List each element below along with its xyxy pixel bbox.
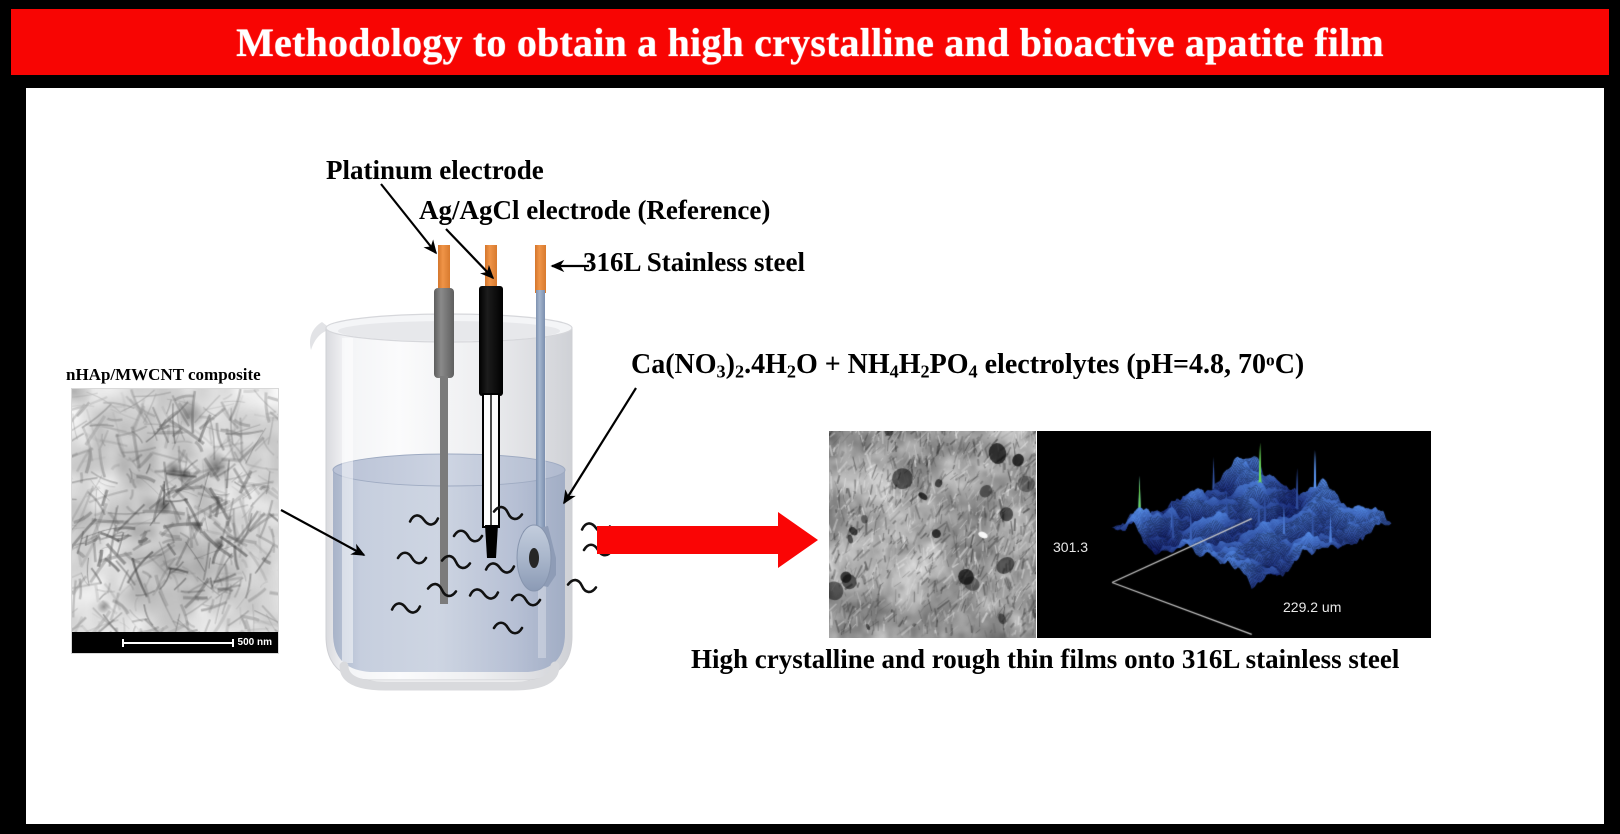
diagram-canvas: Platinum electrode Ag/AgCl electrode (Re… xyxy=(26,88,1604,824)
red-arrow-icon xyxy=(597,512,818,568)
arrow-to-electrolyte xyxy=(564,388,636,503)
platinum-tip-icon xyxy=(438,245,450,291)
glass-highlight-left xyxy=(342,338,353,663)
apparatus-illustration xyxy=(26,88,1604,824)
platinum-wire xyxy=(440,376,448,604)
steel-sample-disc xyxy=(517,525,556,591)
working-electrode-rod xyxy=(536,290,545,535)
working-tip-icon xyxy=(535,245,546,293)
reference-tip-icon xyxy=(485,245,497,291)
reference-body xyxy=(479,286,503,396)
arrow-to-platinum xyxy=(381,184,436,253)
reference-tip-bottom xyxy=(485,525,498,558)
tem-scale-value: 500 nm xyxy=(238,637,272,648)
platinum-body xyxy=(434,288,454,378)
liquid-surface xyxy=(333,454,565,486)
reference-electrode xyxy=(479,245,503,558)
page-title: Methodology to obtain a high crystalline… xyxy=(236,19,1384,66)
poster-frame: Methodology to obtain a high crystalline… xyxy=(0,0,1620,834)
process-arrow xyxy=(597,512,818,568)
disc-center-hole xyxy=(529,548,539,568)
title-banner: Methodology to obtain a high crystalline… xyxy=(8,6,1612,78)
